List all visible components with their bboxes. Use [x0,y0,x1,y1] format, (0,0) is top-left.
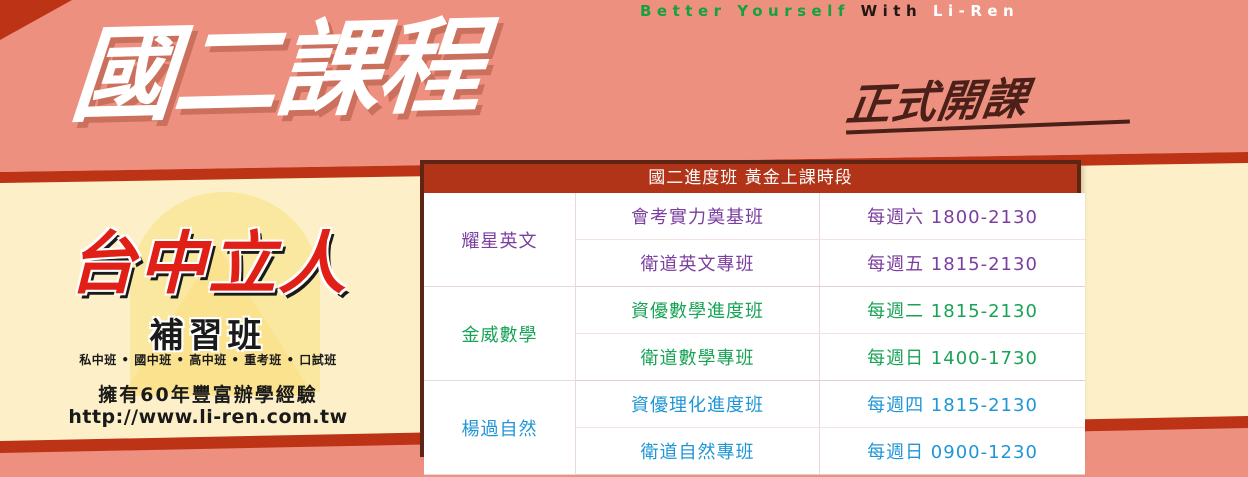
tagline-part-better-yourself: Better Yourself [640,2,850,20]
tagline: Better Yourself With Li-Ren [640,2,1019,20]
logo-type: 補習班 [18,308,398,357]
course-cell: 資優數學進度班 [576,287,820,334]
schedule-table: 耀星英文會考實力奠基班每週六 1800-2130衛道英文專班每週五 1815-2… [424,193,1085,475]
page-subtitle: 正式開課 [843,63,1033,134]
brand-logo: 台中立人 補習班 私中班 • 國中班 • 高中班 • 重考班 • 口試班 擁有6… [18,186,398,426]
time-cell: 每週日 0900-1230 [820,428,1086,475]
logo-website-url[interactable]: http://www.li-ren.com.tw [18,406,398,428]
subject-cell: 耀星英文 [424,193,576,287]
table-row: 金威數學資優數學進度班每週二 1815-2130 [424,287,1085,334]
subject-cell: 楊過自然 [424,381,576,475]
schedule-panel: 國二進度班 黃金上課時段 耀星英文會考實力奠基班每週六 1800-2130衛道英… [420,160,1081,457]
logo-name: 台中立人 [18,208,398,307]
promo-banner: Better Yourself With Li-Ren 國二課程 正式開課 台中… [0,0,1248,477]
table-row: 楊過自然資優理化進度班每週四 1815-2130 [424,381,1085,428]
course-cell: 會考實力奠基班 [576,193,820,240]
time-cell: 每週二 1815-2130 [820,287,1086,334]
schedule-header: 國二進度班 黃金上課時段 [424,164,1077,193]
subject-cell: 金威數學 [424,287,576,381]
course-cell: 資優理化進度班 [576,381,820,428]
time-cell: 每週日 1400-1730 [820,334,1086,381]
table-row: 耀星英文會考實力奠基班每週六 1800-2130 [424,193,1085,240]
time-cell: 每週五 1815-2130 [820,240,1086,287]
page-title: 國二課程 [67,11,485,130]
tagline-part-liren: Li-Ren [933,2,1019,20]
logo-class-list: 私中班 • 國中班 • 高中班 • 重考班 • 口試班 [18,351,398,368]
time-cell: 每週六 1800-2130 [820,193,1086,240]
time-cell: 每週四 1815-2130 [820,381,1086,428]
course-cell: 衛道數學專班 [576,334,820,381]
course-cell: 衛道自然專班 [576,428,820,475]
tagline-part-with: With [861,2,923,20]
course-cell: 衛道英文專班 [576,240,820,287]
logo-experience: 擁有60年豐富辦學經驗 [18,380,398,407]
